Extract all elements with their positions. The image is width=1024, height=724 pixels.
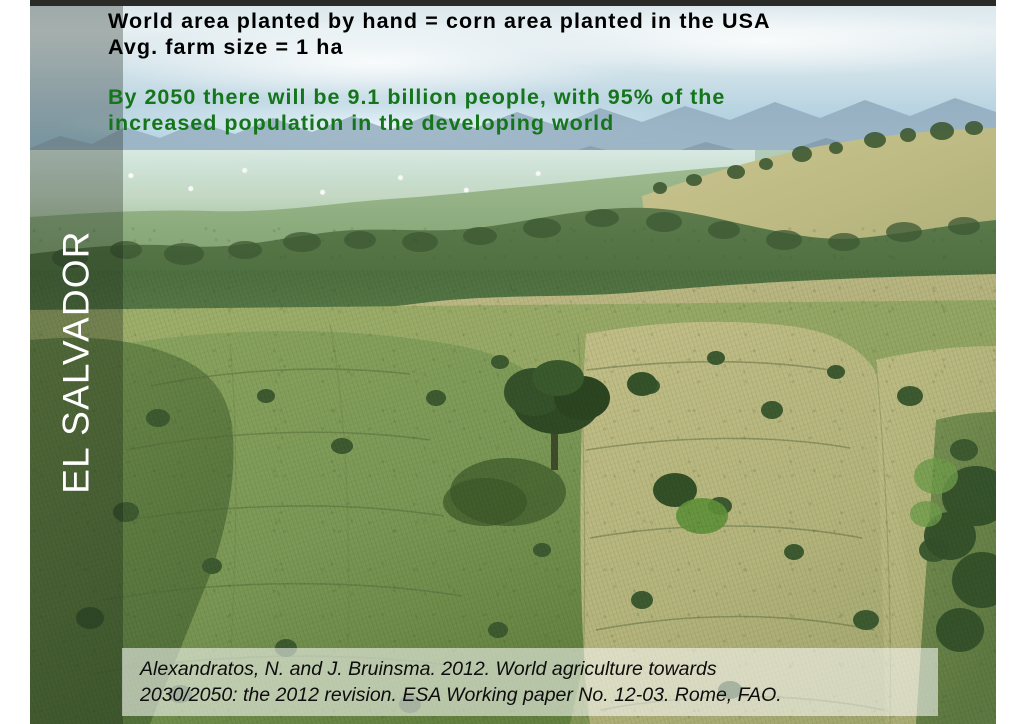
headline-block: World area planted by hand = corn area p… xyxy=(108,8,953,60)
subhead-block: By 2050 there will be 9.1 billion people… xyxy=(108,84,953,136)
subhead-line-2: increased population in the developing w… xyxy=(108,110,953,136)
left-white-margin xyxy=(0,0,30,724)
slide-root: EL SALVADOR World area planted by hand =… xyxy=(0,0,1024,724)
citation-line-2: 2030/2050: the 2012 revision. ESA Workin… xyxy=(140,682,938,708)
right-white-margin xyxy=(996,0,1024,724)
top-dark-band xyxy=(30,0,996,6)
headline-line-1: World area planted by hand = corn area p… xyxy=(108,8,953,34)
subhead-line-1: By 2050 there will be 9.1 billion people… xyxy=(108,84,953,110)
headline-line-2: Avg. farm size = 1 ha xyxy=(108,34,953,60)
citation-line-1: Alexandratos, N. and J. Bruinsma. 2012. … xyxy=(140,656,938,682)
citation-box: Alexandratos, N. and J. Bruinsma. 2012. … xyxy=(122,648,938,716)
country-label-text: EL SALVADOR xyxy=(56,230,98,493)
central-tree xyxy=(30,340,996,560)
